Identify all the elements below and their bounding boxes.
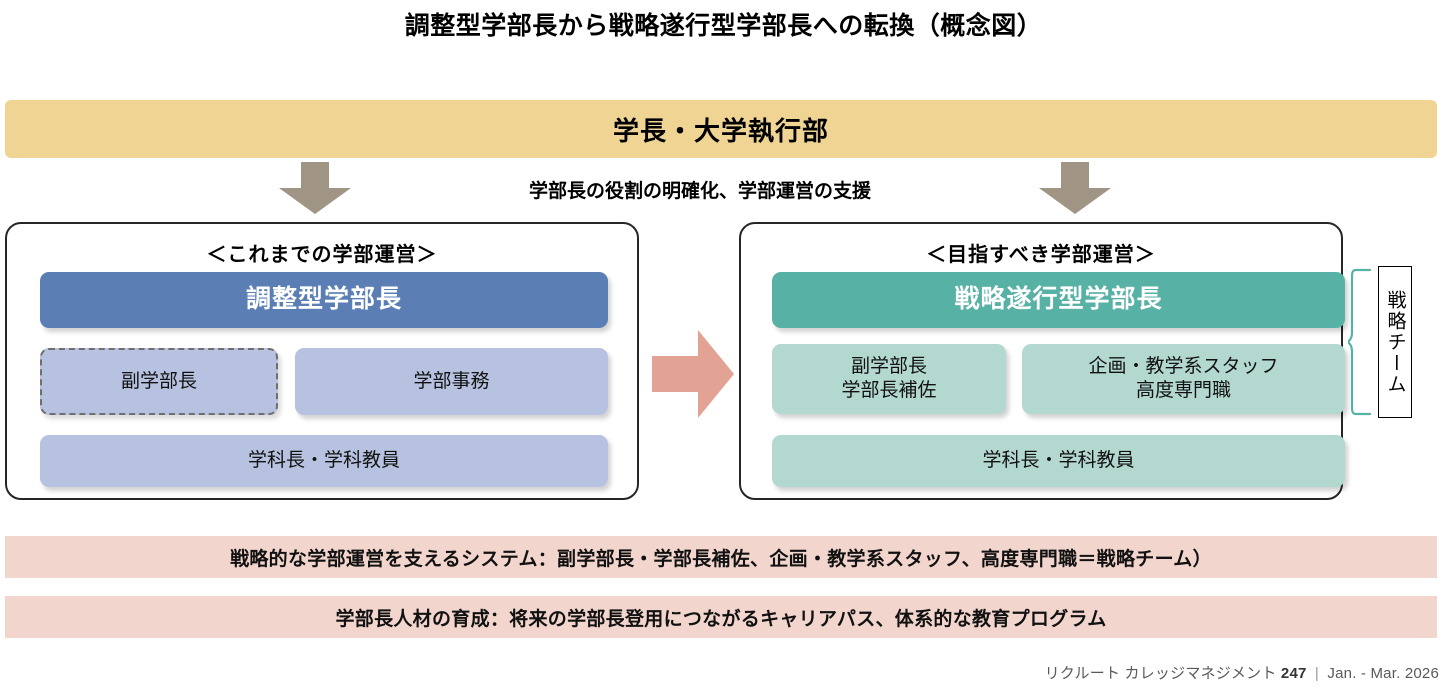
panel-after-heading: ＜目指すべき学部運営＞ — [741, 238, 1341, 267]
note-banner-talent-label: 学部長人材の育成：将来の学部長登用につながるキャリアパス、体系的な教育プログラム — [335, 604, 1106, 631]
footer-separator: | — [1311, 665, 1323, 682]
page-title: 調整型学部長から戦略遂行型学部長への転換（概念図） — [0, 6, 1447, 42]
after-dean-label: 戦略遂行型学部長 — [954, 284, 1162, 315]
after-dean-box: 戦略遂行型学部長 — [772, 272, 1345, 328]
down-arrow-right-icon — [1039, 162, 1111, 214]
support-caption: 学部長の役割の明確化、学部運営の支援 — [440, 176, 960, 203]
note-banner-talent: 学部長人材の育成：将来の学部長登用につながるキャリアパス、体系的な教育プログラム — [5, 596, 1437, 638]
before-dean-label: 調整型学部長 — [246, 284, 402, 315]
panel-before-heading: ＜これまでの学部運営＞ — [7, 238, 637, 267]
president-executive-banner: 学長・大学執行部 — [5, 100, 1437, 158]
before-faculty-office-box: 学部事務 — [295, 348, 608, 415]
after-planning-staff-box: 企画・教学系スタッフ高度専門職 — [1022, 344, 1345, 414]
before-department-faculty-label: 学科長・学科教員 — [248, 449, 400, 473]
after-planning-staff-label: 企画・教学系スタッフ高度専門職 — [1088, 355, 1278, 403]
strategy-team-brace-icon — [1348, 268, 1372, 416]
after-vice-dean-label: 副学部長学部長補佐 — [841, 355, 936, 403]
before-department-faculty-box: 学科長・学科教員 — [40, 435, 608, 487]
panel-before-faculty-management: ＜これまでの学部運営＞ 調整型学部長 副学部長 学部事務 学科長・学科教員 — [5, 222, 639, 500]
after-department-faculty-label: 学科長・学科教員 — [982, 449, 1134, 473]
before-vice-dean-box: 副学部長 — [40, 348, 278, 415]
before-dean-box: 調整型学部長 — [40, 272, 608, 328]
after-vice-dean-box: 副学部長学部長補佐 — [772, 344, 1006, 414]
note-banner-system: 戦略的な学部運営を支えるシステム：副学部長・学部長補佐、企画・教学系スタッフ、高… — [5, 536, 1437, 578]
after-department-faculty-box: 学科長・学科教員 — [772, 435, 1345, 487]
footer-publication: リクルート カレッジマネジメント — [1045, 665, 1277, 682]
transition-right-arrow-icon — [652, 330, 734, 418]
before-vice-dean-label: 副学部長 — [121, 370, 197, 394]
footer-date: Jan. - Mar. 2026 — [1327, 665, 1439, 682]
down-arrow-left-icon — [279, 162, 351, 214]
footer-issue-number: 247 — [1281, 665, 1307, 682]
note-banner-system-label: 戦略的な学部運営を支えるシステム：副学部長・学部長補佐、企画・教学系スタッフ、高… — [230, 544, 1212, 571]
footer: リクルート カレッジマネジメント 247 | Jan. - Mar. 2026 — [1045, 662, 1439, 683]
president-executive-label: 学長・大学執行部 — [613, 111, 829, 148]
strategy-team-label: 戦略チーム — [1378, 266, 1412, 418]
before-faculty-office-label: 学部事務 — [413, 370, 489, 394]
panel-after-faculty-management: ＜目指すべき学部運営＞ 戦略遂行型学部長 副学部長学部長補佐 企画・教学系スタッ… — [739, 222, 1343, 500]
